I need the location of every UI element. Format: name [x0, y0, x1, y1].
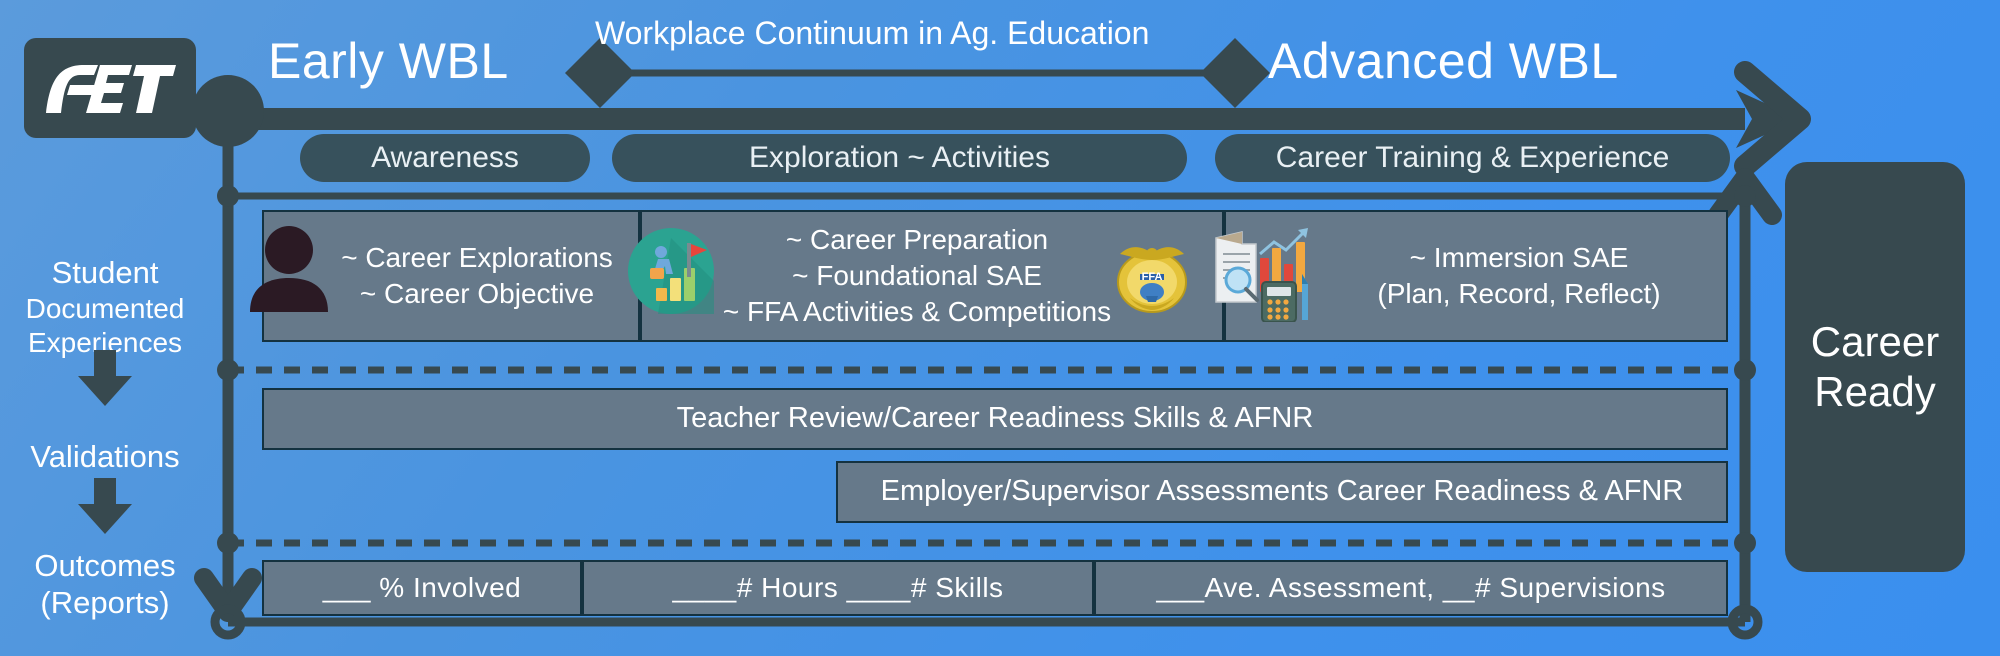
outcome-assessment-label: ___Ave. Assessment, __# Supervisions: [1096, 570, 1726, 606]
down-arrow-icon-1: [70, 350, 140, 408]
axis-label-outcomes-line1: Outcomes: [34, 548, 175, 583]
axis-label-student-line1: Student: [0, 254, 210, 292]
immersion-line2: (Plan, Record, Reflect): [1312, 276, 1726, 312]
preparation-line2: ~ Foundational SAE: [646, 258, 1188, 294]
outcome-cell-assessment-supervisions[interactable]: ___Ave. Assessment, __# Supervisions: [1094, 560, 1728, 616]
validation-cell-teacher-review[interactable]: Teacher Review/Career Readiness Skills &…: [262, 388, 1728, 450]
teacher-review-label: Teacher Review/Career Readiness Skills &…: [264, 400, 1726, 437]
stage-pill-exploration[interactable]: Exploration ~ Activities: [612, 134, 1187, 182]
axis-label-validations: Validations: [0, 438, 210, 476]
axis-label-student-experiences: Student Documented Experiences: [0, 254, 210, 360]
axis-label-outcomes: Outcomes (Reports): [0, 548, 210, 621]
immersion-line1: ~ Immersion SAE: [1312, 240, 1726, 276]
career-ready-line2: Ready: [1811, 367, 1939, 417]
preparation-line1: ~ Career Preparation: [646, 222, 1188, 258]
stage-pill-awareness[interactable]: Awareness: [300, 134, 590, 182]
outcome-percent-label: ___ % Involved: [264, 570, 580, 606]
aet-logo-mark: [40, 57, 180, 119]
stage-pill-training[interactable]: Career Training & Experience: [1215, 134, 1730, 182]
career-growth-icon: [628, 228, 714, 314]
axis-label-outcomes-line2: (Reports): [40, 585, 169, 620]
continuum-title: Workplace Continuum in Ag. Education: [595, 15, 1149, 52]
outcome-cell-percent-involved[interactable]: ___ % Involved: [262, 560, 582, 616]
ffa-emblem-icon: FFA: [1110, 236, 1194, 316]
aet-logo[interactable]: [24, 38, 196, 138]
career-ready-box[interactable]: Career Ready: [1785, 162, 1965, 572]
preparation-line3: ~ FFA Activities & Competitions: [646, 294, 1188, 330]
advanced-wbl-label: Advanced WBL: [1268, 32, 1619, 90]
down-arrow-icon-2: [70, 478, 140, 536]
svg-text:FFA: FFA: [1142, 271, 1163, 283]
records-icon: [1212, 228, 1322, 322]
person-icon: [246, 224, 332, 312]
career-ready-line1: Career: [1811, 317, 1939, 367]
validation-cell-employer-assessment[interactable]: Employer/Supervisor Assessments Career R…: [836, 461, 1728, 523]
early-wbl-label: Early WBL: [268, 32, 509, 90]
diagram-canvas: Early WBL Workplace Continuum in Ag. Edu…: [0, 0, 2000, 656]
explorations-line1: ~ Career Explorations: [316, 240, 638, 276]
axis-label-student-line2: Documented: [0, 292, 210, 326]
outcome-hours-label: ____# Hours ____# Skills: [584, 570, 1092, 606]
employer-assessment-label: Employer/Supervisor Assessments Career R…: [838, 473, 1726, 510]
explorations-line2: ~ Career Objective: [316, 276, 638, 312]
outcome-cell-hours-skills[interactable]: ____# Hours ____# Skills: [582, 560, 1094, 616]
